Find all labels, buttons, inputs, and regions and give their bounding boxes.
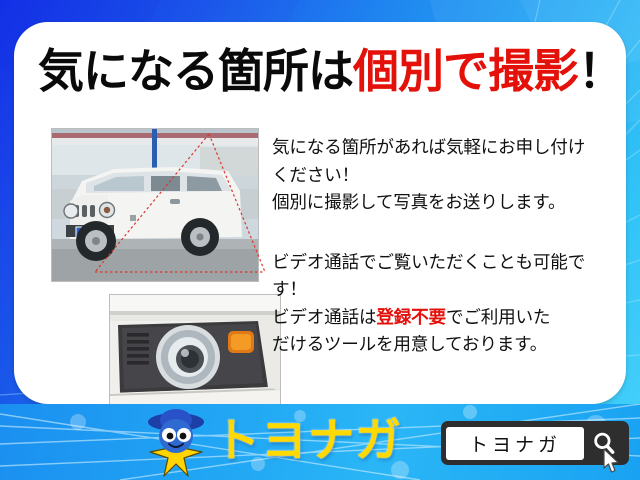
search-input[interactable]: トヨナガ	[446, 427, 584, 460]
paragraph-1-line-3: 個別に撮影して写真をお送りします。	[272, 189, 624, 217]
brand-logo-text: トヨナガ	[214, 414, 402, 466]
headline-part-3: ！	[578, 45, 623, 97]
paragraph-2-line-2: す！	[272, 276, 624, 304]
paragraph-2-post: でご利用いた	[446, 307, 550, 327]
body-text-column: 気になる箇所があれば気軽にお申し付け ください！ 個別に撮影して写真をお送りしま…	[272, 134, 624, 359]
vehicle-photo-main[interactable]	[51, 128, 259, 282]
white-suv-illustration	[52, 129, 258, 281]
promo-slide: 気になる箇所は個別で撮影！	[0, 0, 640, 480]
paragraph-2-pre: ビデオ通話は	[272, 307, 376, 327]
paragraph-2-highlight: 登録不要	[376, 307, 446, 327]
headline-part-1: 気になる箇所は	[38, 45, 353, 97]
paragraph-1: 気になる箇所があれば気軽にお申し付け ください！ 個別に撮影して写真をお送りしま…	[272, 134, 624, 217]
content-card: 気になる箇所は個別で撮影！	[14, 22, 626, 404]
paragraph-2-line-1: ビデオ通話でご覧いただくことも可能で	[272, 249, 624, 277]
page-title: 気になる箇所は個別で撮影！	[38, 46, 608, 96]
paragraph-2-line-4: だけるツールを用意しております。	[272, 331, 624, 359]
paragraph-2-line-3: ビデオ通話は登録不要でご利用いた	[272, 304, 624, 332]
paragraph-2: ビデオ通話でご覧いただくことも可能で す！ ビデオ通話は登録不要でご利用いた だ…	[272, 249, 624, 359]
headlight-closeup-illustration	[110, 295, 280, 404]
vehicle-photo-detail[interactable]	[109, 294, 281, 404]
paragraph-1-line-1: 気になる箇所があれば気軽にお申し付け	[272, 134, 624, 162]
paragraph-1-line-2: ください！	[272, 162, 624, 190]
toyonaga-mascot-icon	[140, 406, 212, 478]
headline-highlight: 個別で撮影	[353, 45, 578, 97]
pointer-cursor-icon	[598, 447, 624, 479]
